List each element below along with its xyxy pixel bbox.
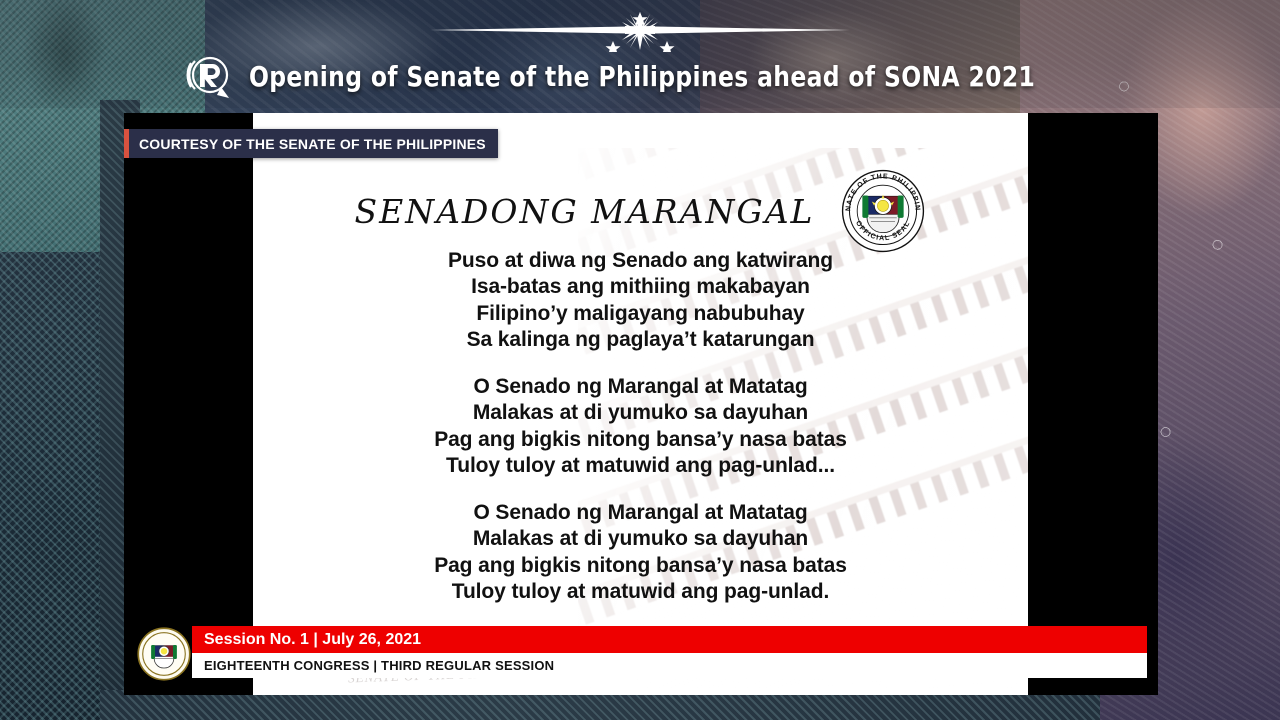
lyric-line: O Senado ng Marangal at Matatag xyxy=(253,500,1028,526)
lyric-line: Tuloy tuloy at matuwid ang pag-unlad. xyxy=(253,579,1028,605)
lyric-line: Malakas at di yumuko sa dayuhan xyxy=(253,526,1028,552)
background-tile-navy-left xyxy=(0,252,110,720)
rappler-r-logo-icon xyxy=(185,51,235,101)
lyric-line: Puso at diwa ng Senado ang katwirang xyxy=(253,248,1028,274)
anthem-lyrics: Puso at diwa ng Senado ang katwirangIsa-… xyxy=(253,248,1028,626)
lyric-stanza: O Senado ng Marangal at MatatagMalakas a… xyxy=(253,374,1028,479)
philippine-sun-burst-icon xyxy=(0,10,1280,52)
session-number-date: Session No. 1 | July 26, 2021 xyxy=(192,631,421,649)
slide-title: SENADONG MARANGAL xyxy=(355,192,815,231)
video-player-frame[interactable]: SENATE OF THE PHILIPPINES SENADONG MARAN… xyxy=(124,113,1158,695)
lyric-line: Malakas at di yumuko sa dayuhan xyxy=(253,400,1028,426)
senate-seal-icon xyxy=(136,626,192,682)
page-title: Opening of Senate of the Philippines ahe… xyxy=(249,60,1035,93)
courtesy-text: COURTESY OF THE SENATE OF THE PHILIPPINE… xyxy=(139,136,486,152)
courtesy-banner: COURTESY OF THE SENATE OF THE PHILIPPINE… xyxy=(124,129,498,158)
lyric-line: Pag ang bigkis nitong bansa’y nasa batas xyxy=(253,553,1028,579)
senate-of-the-philippines-official-seal-icon: SENATE OF THE PHILIPPINES OFFICIAL SEAL xyxy=(840,168,926,254)
lyric-line: Filipino’y maligayang nabubuhay xyxy=(253,301,1028,327)
lyric-stanza: Puso at diwa ng Senado ang katwirangIsa-… xyxy=(253,248,1028,353)
lyric-line: Tuloy tuloy at matuwid ang pag-unlad... xyxy=(253,453,1028,479)
footer-congress-bar: EIGHTEENTH CONGRESS | THIRD REGULAR SESS… xyxy=(192,653,1147,678)
lyric-line: Pag ang bigkis nitong bansa’y nasa batas xyxy=(253,427,1028,453)
lyric-line: O Senado ng Marangal at Matatag xyxy=(253,374,1028,400)
lyric-stanza: O Senado ng Marangal at MatatagMalakas a… xyxy=(253,500,1028,605)
session-footer: Session No. 1 | July 26, 2021 EIGHTEENTH… xyxy=(136,626,1147,678)
header-title-row: Opening of Senate of the Philippines ahe… xyxy=(0,48,1280,104)
lyric-line: Sa kalinga ng paglaya’t katarungan xyxy=(253,327,1028,353)
footer-session-bar: Session No. 1 | July 26, 2021 xyxy=(192,626,1147,653)
courtesy-banner-body: COURTESY OF THE SENATE OF THE PHILIPPINE… xyxy=(129,129,498,158)
broadcast-header: Opening of Senate of the Philippines ahe… xyxy=(0,0,1280,108)
presentation-slide: SENATE OF THE PHILIPPINES SENADONG MARAN… xyxy=(253,113,1028,695)
congress-session-label: EIGHTEENTH CONGRESS | THIRD REGULAR SESS… xyxy=(192,658,554,673)
slide-header: SENADONG MARANGAL SENATE OF THE PHILIPPI… xyxy=(253,168,1028,254)
lyric-line: Isa-batas ang mithiing makabayan xyxy=(253,274,1028,300)
